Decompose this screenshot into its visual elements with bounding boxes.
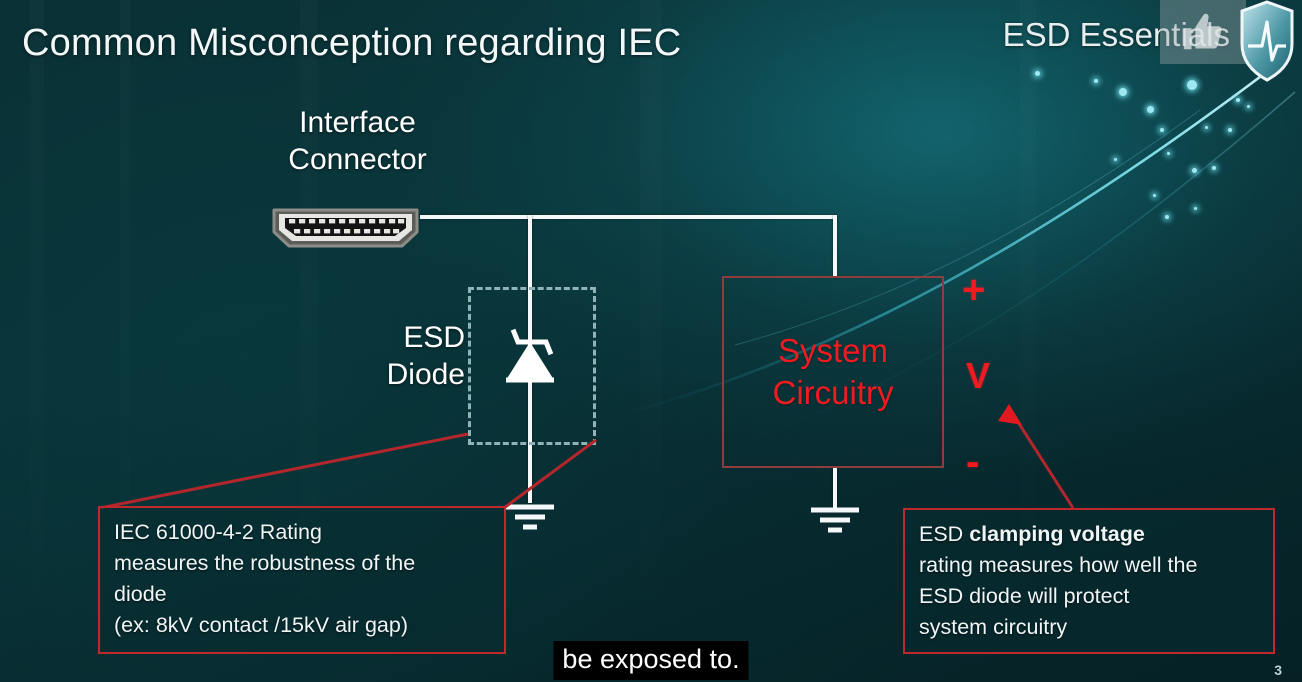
video-caption: be exposed to. <box>553 641 748 680</box>
callout-left-text: IEC 61000-4-2 Rating measures the robust… <box>114 517 492 641</box>
callout-right-prefix: ESD <box>919 522 969 546</box>
page-title: Common Misconception regarding IEC <box>22 22 681 65</box>
callout-left: IEC 61000-4-2 Rating measures the robust… <box>98 506 506 654</box>
wire-system-top <box>833 215 837 278</box>
voltage-minus-label: - <box>966 440 979 485</box>
callout-right: ESD clamping voltage rating measures how… <box>903 508 1275 654</box>
callout-right-text: ESD clamping voltage rating measures how… <box>919 519 1261 643</box>
callout-right-suffix: rating measures how well the ESD diode w… <box>919 553 1197 639</box>
tvs-zener-diode-icon <box>484 318 576 403</box>
callout-right-bold: clamping voltage <box>969 522 1145 546</box>
esd-diode-label: ESD Diode <box>350 320 465 393</box>
system-circuitry-label: System Circuitry <box>773 330 894 414</box>
interface-connector-label: Interface Connector <box>270 105 445 178</box>
voltage-v-label: V <box>966 355 990 397</box>
hdmi-connector-icon <box>268 205 423 251</box>
slide-canvas: Common Misconception regarding IEC ESD E… <box>0 0 1302 682</box>
page-number: 3 <box>1274 662 1282 678</box>
wire-system-bottom <box>833 466 837 508</box>
shield-pulse-icon <box>1238 0 1296 84</box>
ground-symbol-icon <box>807 503 863 535</box>
thumbs-up-icon <box>1160 0 1246 64</box>
voltage-plus-label: + <box>962 268 985 313</box>
system-circuitry-block: System Circuitry <box>722 276 944 468</box>
ground-symbol-icon <box>502 500 558 532</box>
wire-connector-to-system <box>420 215 837 219</box>
